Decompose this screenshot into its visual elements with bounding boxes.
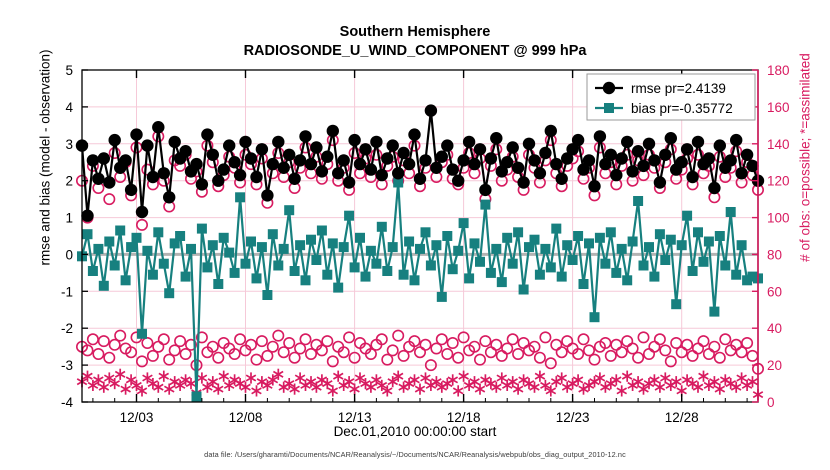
bias-marker bbox=[639, 261, 649, 271]
bias-marker bbox=[88, 266, 98, 276]
obs-assimilated-marker bbox=[121, 384, 131, 395]
obs-possible-marker bbox=[93, 349, 103, 359]
rmse-marker bbox=[354, 158, 366, 170]
rmse-marker bbox=[594, 130, 606, 142]
obs-possible-marker bbox=[453, 353, 463, 363]
x-tick-label: 12/08 bbox=[229, 410, 263, 425]
obs-possible-marker bbox=[273, 330, 283, 340]
bias-marker bbox=[426, 261, 436, 271]
obs-assimilated-marker bbox=[328, 385, 338, 396]
bias-marker bbox=[355, 233, 365, 243]
rmse-marker bbox=[425, 104, 437, 116]
obs-possible-marker bbox=[655, 334, 665, 344]
obs-assimilated-marker bbox=[197, 372, 207, 383]
bias-marker bbox=[453, 246, 463, 256]
rmse-marker bbox=[228, 156, 240, 168]
rmse-marker bbox=[343, 176, 355, 188]
bias-marker bbox=[475, 257, 485, 267]
obs-possible-marker bbox=[578, 334, 588, 344]
y-tick-label-right: 0 bbox=[767, 395, 775, 410]
bias-marker bbox=[224, 248, 234, 258]
bias-marker bbox=[682, 211, 692, 221]
obs-possible-marker bbox=[660, 345, 670, 355]
rmse-marker bbox=[152, 121, 164, 133]
bias-marker bbox=[699, 257, 709, 267]
obs-possible-marker bbox=[175, 336, 185, 346]
y-tick-label-right: 80 bbox=[767, 247, 782, 262]
bias-marker bbox=[83, 229, 93, 239]
obs-assimilated-marker bbox=[551, 376, 561, 387]
rmse-marker bbox=[474, 143, 486, 155]
rmse-marker bbox=[534, 167, 546, 179]
rmse-marker bbox=[212, 175, 224, 187]
rmse-marker bbox=[201, 128, 213, 140]
obs-assimilated-marker bbox=[557, 372, 567, 383]
obs-possible-marker bbox=[638, 332, 648, 342]
rmse-marker bbox=[305, 158, 317, 170]
obs-assimilated-marker bbox=[464, 380, 474, 391]
rmse-marker bbox=[392, 167, 404, 179]
rmse-marker bbox=[321, 151, 333, 163]
rmse-marker bbox=[725, 154, 737, 166]
rmse-marker bbox=[457, 154, 469, 166]
rmse-marker bbox=[616, 152, 628, 164]
rmse-marker bbox=[376, 169, 388, 181]
obs-assimilated-marker bbox=[655, 382, 665, 393]
rmse-marker bbox=[223, 139, 235, 151]
rmse-marker bbox=[125, 184, 137, 196]
chart-page: Southern Hemisphere RADIOSONDE_U_WIND_CO… bbox=[0, 0, 830, 470]
obs-possible-marker bbox=[115, 330, 125, 340]
rmse-marker bbox=[490, 132, 502, 144]
rmse-marker bbox=[637, 160, 649, 172]
bias-marker bbox=[737, 240, 747, 250]
bias-marker bbox=[688, 266, 698, 276]
rmse-marker bbox=[119, 154, 131, 166]
rmse-marker bbox=[419, 154, 431, 166]
bias-marker bbox=[197, 224, 207, 234]
obs-assimilated-marker bbox=[99, 382, 109, 393]
rmse-marker bbox=[92, 173, 104, 185]
bias-marker bbox=[371, 259, 381, 269]
rmse-marker bbox=[267, 158, 279, 170]
rmse-marker bbox=[741, 149, 753, 161]
bias-marker bbox=[366, 246, 376, 256]
x-tick-label: 12/23 bbox=[556, 410, 590, 425]
rmse-marker bbox=[588, 180, 600, 192]
bias-marker bbox=[622, 275, 632, 285]
obs-assimilated-marker bbox=[661, 372, 671, 383]
rmse-marker bbox=[507, 141, 519, 153]
obs-assimilated-marker bbox=[317, 374, 327, 385]
bias-marker bbox=[246, 237, 256, 247]
rmse-marker bbox=[234, 169, 246, 181]
bias-marker bbox=[306, 235, 316, 245]
rmse-marker bbox=[545, 125, 557, 137]
bias-marker bbox=[93, 244, 103, 254]
obs-possible-marker bbox=[448, 338, 458, 348]
y-tick-label-left: -4 bbox=[61, 395, 73, 410]
rmse-marker bbox=[408, 128, 420, 140]
bias-marker bbox=[192, 392, 202, 402]
rmse-marker bbox=[218, 163, 230, 175]
bias-marker bbox=[546, 262, 556, 272]
bias-marker bbox=[388, 242, 398, 252]
rmse-marker bbox=[288, 173, 300, 185]
obs-possible-marker bbox=[268, 342, 278, 352]
rmse-marker bbox=[332, 167, 344, 179]
obs-possible-marker bbox=[633, 353, 643, 363]
obs-assimilated-marker bbox=[470, 376, 480, 387]
bias-marker bbox=[677, 240, 687, 250]
y-tick-label-left: -3 bbox=[61, 358, 73, 373]
y-tick-label-left: 1 bbox=[65, 211, 73, 226]
obs-possible-marker bbox=[589, 354, 599, 364]
x-tick-label: 12/18 bbox=[447, 410, 481, 425]
rmse-marker bbox=[632, 145, 644, 157]
rmse-marker bbox=[447, 163, 459, 175]
bias-marker bbox=[121, 275, 131, 285]
rmse-marker bbox=[605, 149, 617, 161]
obs-assimilated-marker bbox=[459, 371, 469, 382]
bias-marker bbox=[404, 237, 414, 247]
obs-assimilated-marker bbox=[410, 374, 420, 385]
rmse-marker bbox=[703, 152, 715, 164]
obs-assimilated-marker bbox=[720, 374, 730, 385]
obs-assimilated-marker bbox=[164, 384, 174, 395]
y-tick-label-left: 2 bbox=[65, 174, 73, 189]
bias-marker bbox=[262, 290, 272, 300]
obs-possible-marker bbox=[518, 338, 528, 348]
rmse-marker bbox=[572, 134, 584, 146]
rmse-marker bbox=[147, 171, 159, 183]
rmse-marker bbox=[179, 145, 191, 157]
bias-marker bbox=[104, 237, 114, 247]
obs-possible-marker bbox=[104, 194, 114, 204]
rmse-marker bbox=[463, 136, 475, 148]
bias-marker bbox=[208, 240, 218, 250]
rmse-marker bbox=[643, 138, 655, 150]
bias-marker bbox=[562, 240, 572, 250]
obs-assimilated-marker bbox=[219, 371, 229, 382]
bias-marker bbox=[655, 229, 665, 239]
bias-marker bbox=[497, 277, 507, 287]
obs-assimilated-marker bbox=[252, 385, 262, 396]
obs-possible-marker bbox=[693, 343, 703, 353]
rmse-marker bbox=[81, 210, 93, 222]
bias-marker bbox=[513, 227, 523, 237]
obs-assimilated-marker bbox=[666, 380, 676, 391]
bias-marker bbox=[486, 268, 496, 278]
bias-marker bbox=[720, 261, 730, 271]
rmse-marker bbox=[316, 165, 328, 177]
bias-marker bbox=[186, 244, 196, 254]
bias-marker bbox=[328, 238, 338, 248]
bias-marker bbox=[611, 268, 621, 278]
rmse-marker bbox=[103, 176, 115, 188]
rmse-marker bbox=[436, 151, 448, 163]
bias-marker bbox=[726, 207, 736, 217]
obs-possible-marker bbox=[475, 354, 485, 364]
obs-possible-marker bbox=[344, 332, 354, 342]
obs-possible-marker bbox=[546, 358, 556, 368]
obs-possible-marker bbox=[562, 336, 572, 346]
rmse-marker bbox=[648, 154, 660, 166]
bias-marker bbox=[731, 270, 741, 280]
obs-possible-marker bbox=[709, 342, 719, 352]
rmse-marker bbox=[403, 158, 415, 170]
bias-marker bbox=[666, 235, 676, 245]
obs-possible-marker bbox=[142, 338, 152, 348]
bias-marker bbox=[437, 292, 447, 302]
obs-assimilated-marker bbox=[421, 372, 431, 383]
y-tick-label-right: 100 bbox=[767, 211, 790, 226]
obs-assimilated-marker bbox=[535, 371, 545, 382]
bias-marker bbox=[491, 244, 501, 254]
rmse-marker bbox=[130, 128, 142, 140]
rmse-marker bbox=[621, 136, 633, 148]
bias-marker bbox=[132, 233, 142, 243]
bias-marker bbox=[579, 279, 589, 289]
obs-possible-marker bbox=[213, 353, 223, 363]
y-axis-label-left: rmse and bias (model - observation) bbox=[38, 0, 53, 323]
obs-possible-marker bbox=[491, 340, 501, 350]
bias-marker bbox=[704, 237, 714, 247]
rmse-marker bbox=[294, 154, 306, 166]
rmse-marker bbox=[283, 149, 295, 161]
bias-marker bbox=[480, 200, 490, 210]
legend-marker-rmse bbox=[603, 82, 615, 94]
bias-marker bbox=[442, 231, 452, 241]
bias-marker bbox=[459, 218, 469, 228]
obs-possible-marker bbox=[88, 334, 98, 344]
obs-possible-marker bbox=[153, 342, 163, 352]
bias-marker bbox=[671, 299, 681, 309]
obs-assimilated-marker bbox=[617, 385, 627, 396]
bias-marker bbox=[530, 235, 540, 245]
obs-assimilated-marker bbox=[742, 380, 752, 391]
rmse-marker bbox=[654, 176, 666, 188]
y-tick-label-right: 40 bbox=[767, 321, 782, 336]
bias-marker bbox=[115, 226, 125, 236]
rmse-marker bbox=[190, 158, 202, 170]
rmse-marker bbox=[163, 191, 175, 203]
rmse-marker bbox=[158, 167, 170, 179]
bias-marker bbox=[628, 237, 638, 247]
rmse-marker bbox=[381, 152, 393, 164]
chart-plot: -4-3-2-101234502040608010012014016018012… bbox=[0, 0, 830, 470]
obs-possible-marker bbox=[393, 330, 403, 340]
bias-marker bbox=[257, 242, 267, 252]
bias-marker bbox=[502, 233, 512, 243]
rmse-marker bbox=[414, 173, 426, 185]
obs-possible-marker bbox=[715, 353, 725, 363]
obs-possible-marker bbox=[557, 347, 567, 357]
bias-marker bbox=[110, 261, 120, 271]
legend-label: bias pr=-0.35772 bbox=[631, 101, 733, 116]
obs-possible-marker bbox=[540, 332, 550, 342]
bias-marker bbox=[421, 227, 431, 237]
x-tick-label: 12/28 bbox=[665, 410, 699, 425]
bias-marker bbox=[339, 242, 349, 252]
y-tick-label-right: 160 bbox=[767, 100, 790, 115]
obs-possible-marker bbox=[388, 345, 398, 355]
bias-marker bbox=[535, 270, 545, 280]
rmse-marker bbox=[626, 165, 638, 177]
obs-possible-marker bbox=[486, 347, 496, 357]
y-tick-label-right: 60 bbox=[767, 284, 782, 299]
bias-marker bbox=[551, 224, 561, 234]
bias-marker bbox=[410, 275, 420, 285]
obs-possible-marker bbox=[687, 351, 697, 361]
obs-assimilated-marker bbox=[344, 376, 354, 387]
rmse-marker bbox=[735, 167, 747, 179]
rmse-marker bbox=[523, 138, 535, 150]
rmse-marker bbox=[479, 184, 491, 196]
legend-label: rmse pr=2.4139 bbox=[631, 81, 726, 96]
bias-marker bbox=[693, 227, 703, 237]
rmse-marker bbox=[196, 178, 208, 190]
bias-marker bbox=[290, 266, 300, 276]
obs-possible-marker bbox=[606, 351, 616, 361]
rmse-marker bbox=[714, 139, 726, 151]
obs-assimilated-marker bbox=[453, 385, 463, 396]
rmse-marker bbox=[141, 139, 153, 151]
bias-marker bbox=[126, 242, 136, 252]
bias-marker bbox=[311, 255, 321, 265]
obs-possible-marker bbox=[437, 334, 447, 344]
bias-marker bbox=[241, 259, 251, 269]
bias-marker bbox=[268, 229, 278, 239]
obs-possible-marker bbox=[257, 336, 267, 346]
rmse-marker bbox=[556, 173, 568, 185]
rmse-marker bbox=[98, 152, 110, 164]
obs-possible-marker bbox=[442, 349, 452, 359]
bias-marker bbox=[142, 246, 152, 256]
bias-marker bbox=[235, 192, 245, 202]
obs-assimilated-marker bbox=[513, 384, 523, 395]
x-tick-label: 12/13 bbox=[338, 410, 372, 425]
obs-assimilated-marker bbox=[622, 371, 632, 382]
rmse-marker bbox=[87, 154, 99, 166]
bias-marker bbox=[317, 226, 327, 236]
bias-marker bbox=[617, 244, 627, 254]
obs-possible-marker bbox=[535, 353, 545, 363]
bias-marker bbox=[219, 233, 229, 243]
y-tick-label-right: 140 bbox=[767, 137, 790, 152]
rmse-marker bbox=[278, 162, 290, 174]
obs-possible-marker bbox=[415, 347, 425, 357]
rmse-marker bbox=[528, 154, 540, 166]
rmse-marker bbox=[659, 149, 671, 161]
bias-marker bbox=[470, 238, 480, 248]
bias-marker bbox=[649, 272, 659, 282]
bias-marker bbox=[213, 279, 223, 289]
obs-assimilated-marker bbox=[213, 384, 223, 395]
bias-marker bbox=[137, 329, 147, 339]
obs-assimilated-marker bbox=[159, 371, 169, 382]
rmse-marker bbox=[272, 136, 284, 148]
y-tick-label-left: 0 bbox=[65, 247, 73, 262]
obs-possible-marker bbox=[551, 340, 561, 350]
rmse-marker bbox=[136, 206, 148, 218]
bias-marker bbox=[606, 227, 616, 237]
bias-marker bbox=[273, 261, 283, 271]
rmse-marker bbox=[708, 182, 720, 194]
bias-marker bbox=[344, 211, 354, 221]
obs-assimilated-marker bbox=[246, 372, 256, 383]
rmse-marker bbox=[348, 134, 360, 146]
bias-marker bbox=[301, 275, 311, 285]
obs-possible-marker bbox=[698, 336, 708, 346]
obs-possible-marker bbox=[284, 338, 294, 348]
y-tick-label-left: -1 bbox=[61, 284, 73, 299]
rmse-marker bbox=[583, 154, 595, 166]
rmse-marker bbox=[430, 162, 442, 174]
rmse-marker bbox=[485, 152, 497, 164]
bias-marker bbox=[202, 262, 212, 272]
bias-marker bbox=[584, 238, 594, 248]
obs-possible-marker bbox=[682, 340, 692, 350]
obs-possible-marker bbox=[649, 342, 659, 352]
bias-marker bbox=[175, 231, 185, 241]
bias-marker bbox=[644, 242, 654, 252]
bias-marker bbox=[590, 312, 600, 322]
rmse-marker bbox=[681, 143, 693, 155]
legend-marker-bias bbox=[604, 103, 614, 113]
bias-marker bbox=[709, 307, 719, 317]
obs-assimilated-marker bbox=[584, 380, 594, 391]
obs-assimilated-marker bbox=[339, 380, 349, 391]
obs-assimilated-marker bbox=[748, 376, 758, 387]
obs-assimilated-marker bbox=[323, 378, 333, 389]
obs-assimilated-marker bbox=[415, 384, 425, 395]
obs-possible-marker bbox=[617, 347, 627, 357]
obs-possible-marker bbox=[508, 334, 518, 344]
obs-assimilated-marker bbox=[170, 376, 180, 387]
rmse-marker bbox=[256, 143, 268, 155]
rmse-marker bbox=[452, 175, 464, 187]
obs-assimilated-marker bbox=[115, 369, 125, 380]
obs-possible-marker bbox=[704, 349, 714, 359]
rmse-marker bbox=[517, 176, 529, 188]
obs-possible-marker bbox=[159, 334, 169, 344]
bias-marker bbox=[382, 266, 392, 276]
obs-assimilated-marker bbox=[497, 372, 507, 383]
rmse-marker bbox=[512, 162, 524, 174]
obs-possible-marker bbox=[644, 349, 654, 359]
obs-possible-marker bbox=[137, 220, 147, 230]
rmse-marker bbox=[261, 189, 273, 201]
obs-possible-marker bbox=[235, 334, 245, 344]
rmse-marker bbox=[686, 171, 698, 183]
rmse-marker bbox=[441, 139, 453, 151]
y-tick-label-left: 5 bbox=[65, 63, 73, 78]
bias-marker bbox=[715, 231, 725, 241]
obs-assimilated-marker bbox=[737, 372, 747, 383]
bias-marker bbox=[333, 283, 343, 293]
obs-possible-marker bbox=[251, 354, 261, 364]
obs-assimilated-marker bbox=[186, 378, 196, 389]
bias-marker bbox=[148, 270, 158, 280]
rmse-marker bbox=[299, 130, 311, 142]
obs-possible-marker bbox=[300, 334, 310, 344]
rmse-marker bbox=[245, 152, 257, 164]
y-tick-label-left: -2 bbox=[61, 321, 73, 336]
bias-marker bbox=[295, 240, 305, 250]
bias-marker bbox=[153, 227, 163, 237]
obs-possible-marker bbox=[480, 336, 490, 346]
